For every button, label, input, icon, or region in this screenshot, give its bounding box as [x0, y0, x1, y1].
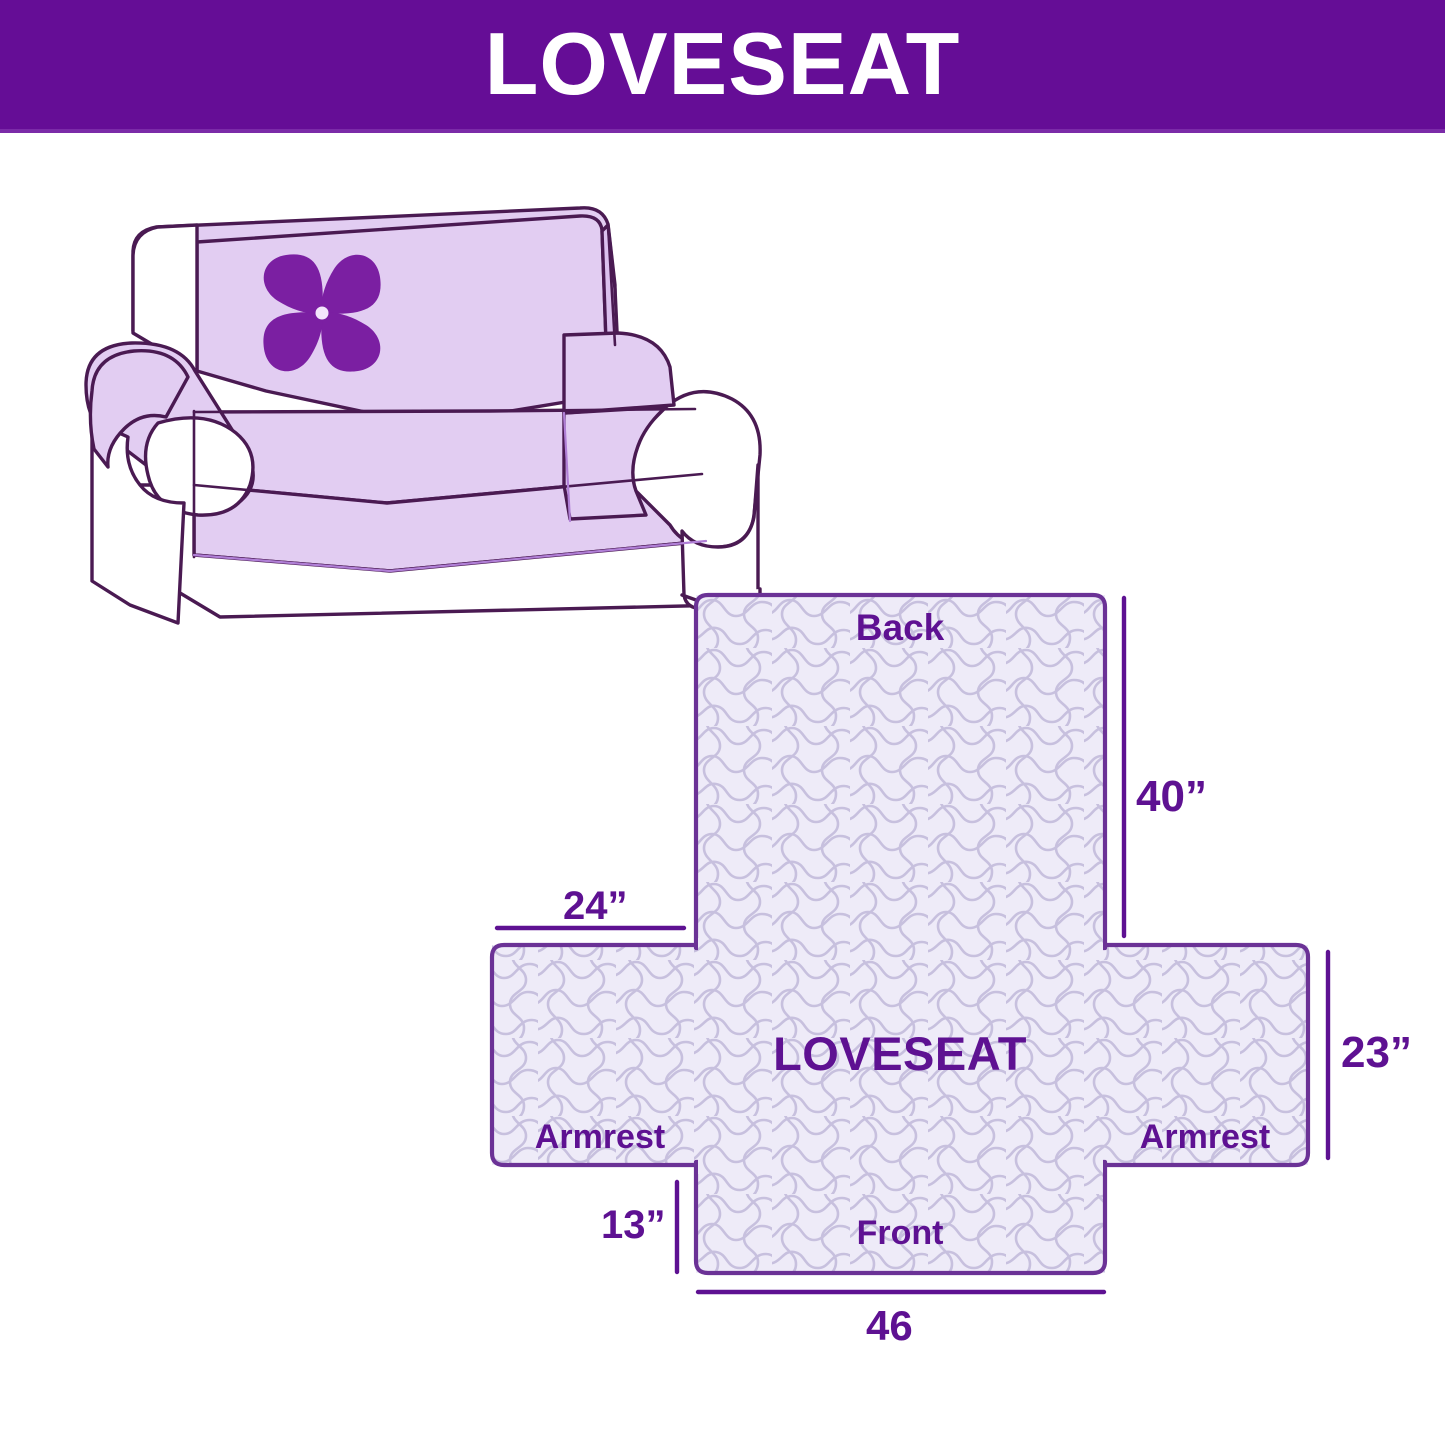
panel-label-back: Back — [790, 607, 1010, 649]
header-banner: LOVESEAT — [0, 0, 1445, 133]
panel-label-armrest-left: Armrest — [500, 1118, 700, 1157]
dimension-back-height: 40” — [1136, 772, 1207, 822]
dimension-back-offset: 24” — [563, 884, 628, 929]
dimension-front-height: 13” — [601, 1203, 666, 1248]
loveseat-size-guide-page: LOVESEAT — [0, 0, 1445, 1445]
dimension-front-width: 46 — [866, 1302, 913, 1350]
panel-label-center: LOVESEAT — [740, 1026, 1060, 1081]
page-title: LOVESEAT — [0, 0, 1445, 133]
panel-label-armrest-right: Armrest — [1105, 1118, 1305, 1157]
header-underline — [0, 129, 1445, 133]
panel-label-front: Front — [790, 1214, 1010, 1253]
dimension-armrest-depth: 23” — [1341, 1028, 1412, 1078]
cross-shape — [492, 595, 1308, 1273]
